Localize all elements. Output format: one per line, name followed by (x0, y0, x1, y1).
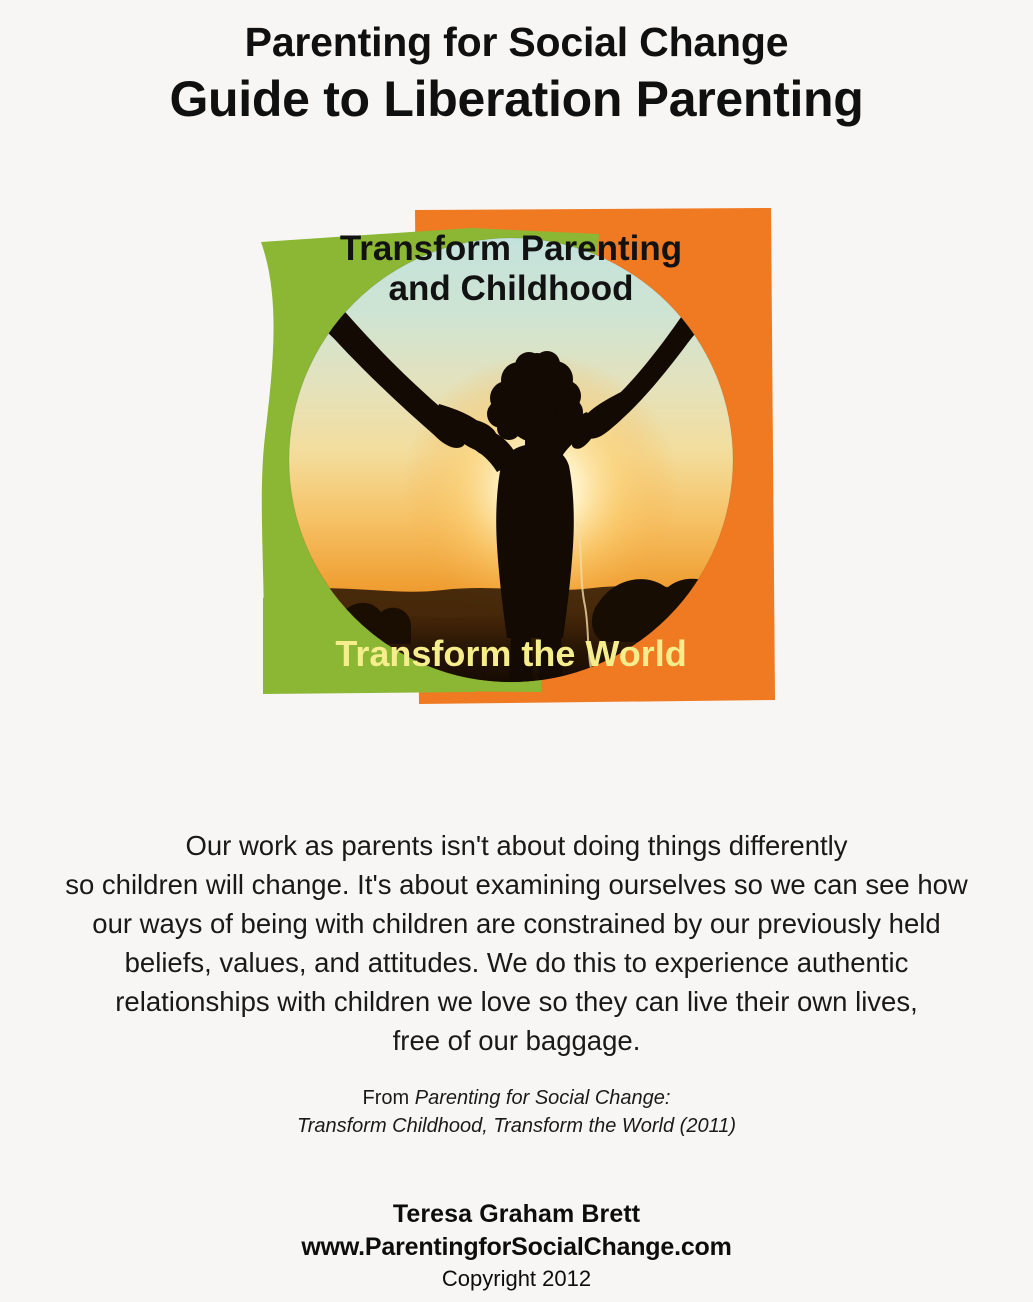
logo-bottom-text: Transform the World (335, 633, 686, 674)
quote-line: our ways of being with children are cons… (20, 904, 1013, 943)
website-url[interactable]: www.ParentingforSocialChange.com (0, 1231, 1033, 1264)
attribution-from-label: From (363, 1087, 415, 1109)
footer-block: Teresa Graham Brett www.ParentingforSoci… (0, 1198, 1033, 1294)
logo-top-text-line1: Transform Parenting (340, 229, 682, 268)
attribution-source-title: Parenting for Social Change: (415, 1087, 671, 1109)
quote-attribution: From Parenting for Social Change: Transf… (0, 1084, 1033, 1140)
logo-top-text-line2: and Childhood (389, 269, 634, 308)
quote-line: relationships with children we love so t… (20, 982, 1013, 1021)
brand-logo-graphic: Transform Parenting and Childhood Transf… (243, 198, 779, 728)
page-title: Parenting for Social Change Guide to Lib… (0, 16, 1033, 130)
author-name: Teresa Graham Brett (0, 1198, 1033, 1231)
copyright-notice: Copyright 2012 (0, 1264, 1033, 1294)
quote-line: beliefs, values, and attitudes. We do th… (20, 943, 1013, 982)
quote-line: free of our baggage. (20, 1021, 1013, 1060)
attribution-line-1: From Parenting for Social Change: (0, 1084, 1033, 1112)
quote-block: Our work as parents isn't about doing th… (20, 826, 1013, 1060)
document-page: Parenting for Social Change Guide to Lib… (0, 0, 1033, 1302)
brand-logo: Transform Parenting and Childhood Transf… (243, 198, 779, 728)
title-line-1: Parenting for Social Change (0, 16, 1033, 68)
title-line-2: Guide to Liberation Parenting (0, 68, 1033, 130)
attribution-source-subtitle: Transform Childhood, Transform the World… (0, 1112, 1033, 1140)
quote-line: so children will change. It's about exam… (20, 865, 1013, 904)
quote-line: Our work as parents isn't about doing th… (20, 826, 1013, 865)
